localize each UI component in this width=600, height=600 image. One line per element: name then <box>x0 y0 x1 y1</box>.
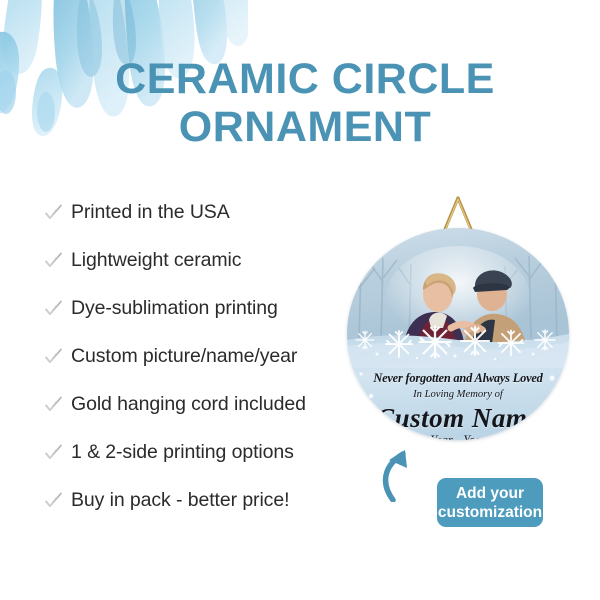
feature-label: Gold hanging cord included <box>71 393 306 416</box>
infographic-canvas: CERAMIC CIRCLE ORNAMENT Printed in the U… <box>0 0 600 600</box>
feature-label: Buy in pack - better price! <box>71 489 289 512</box>
list-item: Custom picture/name/year <box>44 332 344 380</box>
double-check-icon <box>44 347 64 365</box>
product-ornament: Never forgotten and Always Loved In Lovi… <box>347 196 573 442</box>
list-item: Dye-sublimation printing <box>44 284 344 332</box>
feature-label: 1 & 2-side printing options <box>71 441 294 464</box>
inscription-line-2: In Loving Memory of <box>347 389 569 400</box>
list-item: Gold hanging cord included <box>44 380 344 428</box>
cta-line-1: Add your <box>456 484 524 503</box>
list-item: Lightweight ceramic <box>44 236 344 284</box>
double-check-icon <box>44 203 64 221</box>
double-check-icon <box>44 251 64 269</box>
feature-label: Custom picture/name/year <box>71 345 297 368</box>
title-line-2: ORNAMENT <box>95 103 515 151</box>
list-item: 1 & 2-side printing options <box>44 428 344 476</box>
list-item: Printed in the USA <box>44 188 344 236</box>
inscription-years: Year - Year <box>347 433 569 440</box>
double-check-icon <box>44 491 64 509</box>
title-line-1: CERAMIC CIRCLE <box>95 55 515 103</box>
double-check-icon <box>44 443 64 461</box>
add-customization-button[interactable]: Add your customization <box>437 478 543 527</box>
ornament-disc: Never forgotten and Always Loved In Lovi… <box>347 228 569 440</box>
inscription-custom-name: Custom Name <box>347 403 569 434</box>
double-check-icon <box>44 395 64 413</box>
feature-list: Printed in the USA Lightweight ceramic D… <box>44 188 344 524</box>
curved-arrow-up-icon <box>375 440 435 502</box>
feature-label: Printed in the USA <box>71 201 230 224</box>
cta-line-2: customization <box>438 503 542 522</box>
feature-label: Dye-sublimation printing <box>71 297 278 320</box>
page-title: CERAMIC CIRCLE ORNAMENT <box>95 55 515 151</box>
inscription-line-1: Never forgotten and Always Loved <box>347 371 569 386</box>
double-check-icon <box>44 299 64 317</box>
list-item: Buy in pack - better price! <box>44 476 344 524</box>
feature-label: Lightweight ceramic <box>71 249 241 272</box>
